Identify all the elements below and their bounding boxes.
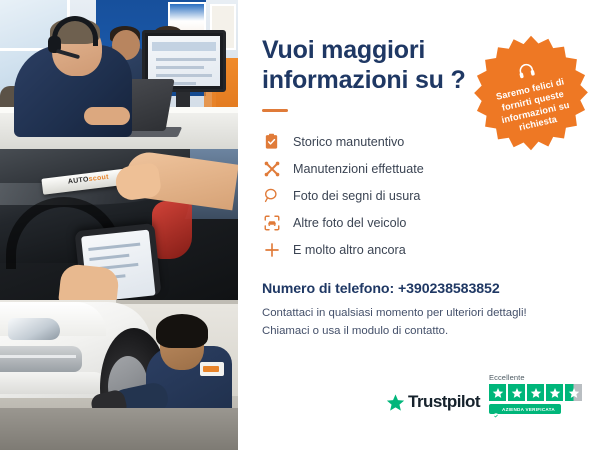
wrench-cross-icon <box>262 159 281 178</box>
phone-number-line: Numero di telefono: +390238583852 <box>262 281 576 297</box>
trustpilot-star-filled <box>546 384 563 401</box>
contact-copy-line-2: Chiamaci o usa il modulo di contatto. <box>262 323 576 341</box>
trustpilot-logo: Trustpilot <box>386 392 480 414</box>
trustpilot-rating-word: Eccellente <box>489 373 525 382</box>
headset-icon <box>515 60 538 83</box>
photo-vehicle-inspection-with-tablet: AUTOscout <box>0 149 238 300</box>
feature-item-molto-altro-ancora: E molto altro ancora <box>262 236 576 263</box>
verified-business-badge: AZIENDA VERIFICATA <box>489 404 561 414</box>
trustpilot-star-icon <box>386 393 405 412</box>
content-panel: Vuoi maggiori informazioni su ? Storico … <box>238 0 600 450</box>
feature-item-altre-foto-veicolo: Altre foto del veicolo <box>262 209 576 236</box>
feature-label: Altre foto del veicolo <box>293 216 406 230</box>
feature-item-foto-segni-usura: Foto dei segni di usura <box>262 182 576 209</box>
photo3-lift-platform <box>0 408 238 450</box>
photo2-tablet-row <box>89 254 129 261</box>
photo-mechanic-servicing-wheel-on-lift <box>0 300 238 450</box>
verified-business-label: AZIENDA VERIFICATA <box>502 407 555 412</box>
photo2-tail-light <box>152 201 192 259</box>
badge-text: Saremo felici di fornirti queste informa… <box>482 73 586 140</box>
clipboard-check-icon <box>262 132 281 151</box>
feature-label: Foto dei segni di usura <box>293 189 420 203</box>
page-title: Vuoi maggiori informazioni su ? <box>262 36 482 95</box>
verified-check-icon <box>493 406 499 412</box>
photo3-mechanic-hair <box>156 314 208 348</box>
trustpilot-wordmark: Trustpilot <box>408 392 480 412</box>
trustpilot-rating-block: Eccellente <box>489 373 582 414</box>
photo2-gauge-brand: AUTOscout <box>68 174 110 186</box>
trustpilot-widget[interactable]: Trustpilot Eccellente <box>386 373 582 414</box>
photo1-monitor-row <box>156 66 204 69</box>
photo2-tablet-row <box>88 243 140 251</box>
photo3-uniform-badge <box>200 362 224 376</box>
photo1-monitor-toolbar <box>152 42 216 51</box>
photo-strip: AUTOscout <box>0 0 238 450</box>
trustpilot-star-filled <box>527 384 544 401</box>
photo1-monitor-stand <box>176 92 190 108</box>
contact-copy-line-1: Contattaci in qualsiasi momento per ulte… <box>262 305 576 323</box>
feature-label: Manutenzioni effettuate <box>293 162 424 176</box>
feature-label: E molto altro ancora <box>293 243 406 257</box>
trustpilot-star-filled <box>508 384 525 401</box>
photo3-front-bumper <box>0 372 106 394</box>
magnifier-icon <box>262 186 281 205</box>
photo1-monitor-row <box>156 74 212 77</box>
photo3-front-grille <box>0 346 82 372</box>
advert-card: AUTOscout <box>0 0 600 450</box>
photo3-wall-trim <box>116 300 238 304</box>
contact-copy: Contattaci in qualsiasi momento per ulte… <box>262 305 576 340</box>
photo1-monitor-row <box>156 58 216 61</box>
title-accent-rule <box>262 109 288 112</box>
plus-icon <box>262 240 281 259</box>
availability-badge: Saremo felici di fornirti queste informa… <box>472 34 590 152</box>
phone-number[interactable]: +390238583852 <box>398 281 500 297</box>
phone-label: Numero di telefono: <box>262 281 398 297</box>
scan-vehicle-icon <box>262 213 281 232</box>
photo-call-center-agents-with-headsets <box>0 0 238 149</box>
trustpilot-star-filled <box>489 384 506 401</box>
trustpilot-star-half <box>565 384 582 401</box>
feature-label: Storico manutentivo <box>293 135 404 149</box>
photo3-headlight <box>8 318 60 340</box>
photo1-main-agent-hands <box>84 107 130 125</box>
trustpilot-star-row <box>489 384 582 401</box>
feature-item-manutenzioni-effettuate: Manutenzioni effettuate <box>262 155 576 182</box>
